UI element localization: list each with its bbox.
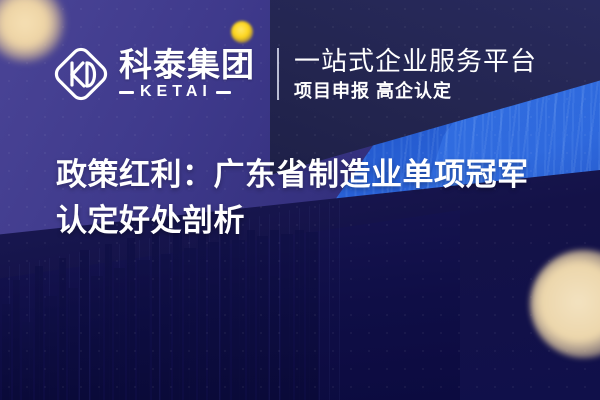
- tagline-sub: 项目申报 高企认定: [294, 81, 537, 103]
- headline-text: 政策红利：广东省制造业单项冠军认定好处剖析: [56, 152, 556, 244]
- brand-wordmark: 科泰集团 KETAI: [119, 48, 255, 100]
- banner-image: 科泰集团 KETAI 一站式企业服务平台 项目申报 高企认定 政策红利：广东省制…: [0, 0, 600, 400]
- dash-left-icon: [119, 91, 134, 94]
- brand-name-en-row: KETAI: [119, 84, 255, 100]
- tagline-block: 一站式企业服务平台 项目申报 高企认定: [294, 46, 537, 102]
- tagline-main: 一站式企业服务平台: [294, 46, 537, 77]
- brand-name-cn: 科泰集团: [119, 48, 255, 82]
- header-divider: [277, 48, 279, 100]
- dash-right-icon: [216, 91, 231, 94]
- ketai-diamond-kd-logo-icon: [52, 45, 110, 103]
- brand-name-en: KETAI: [140, 84, 212, 100]
- brand-header: 科泰集团 KETAI 一站式企业服务平台 项目申报 高企认定: [52, 38, 537, 110]
